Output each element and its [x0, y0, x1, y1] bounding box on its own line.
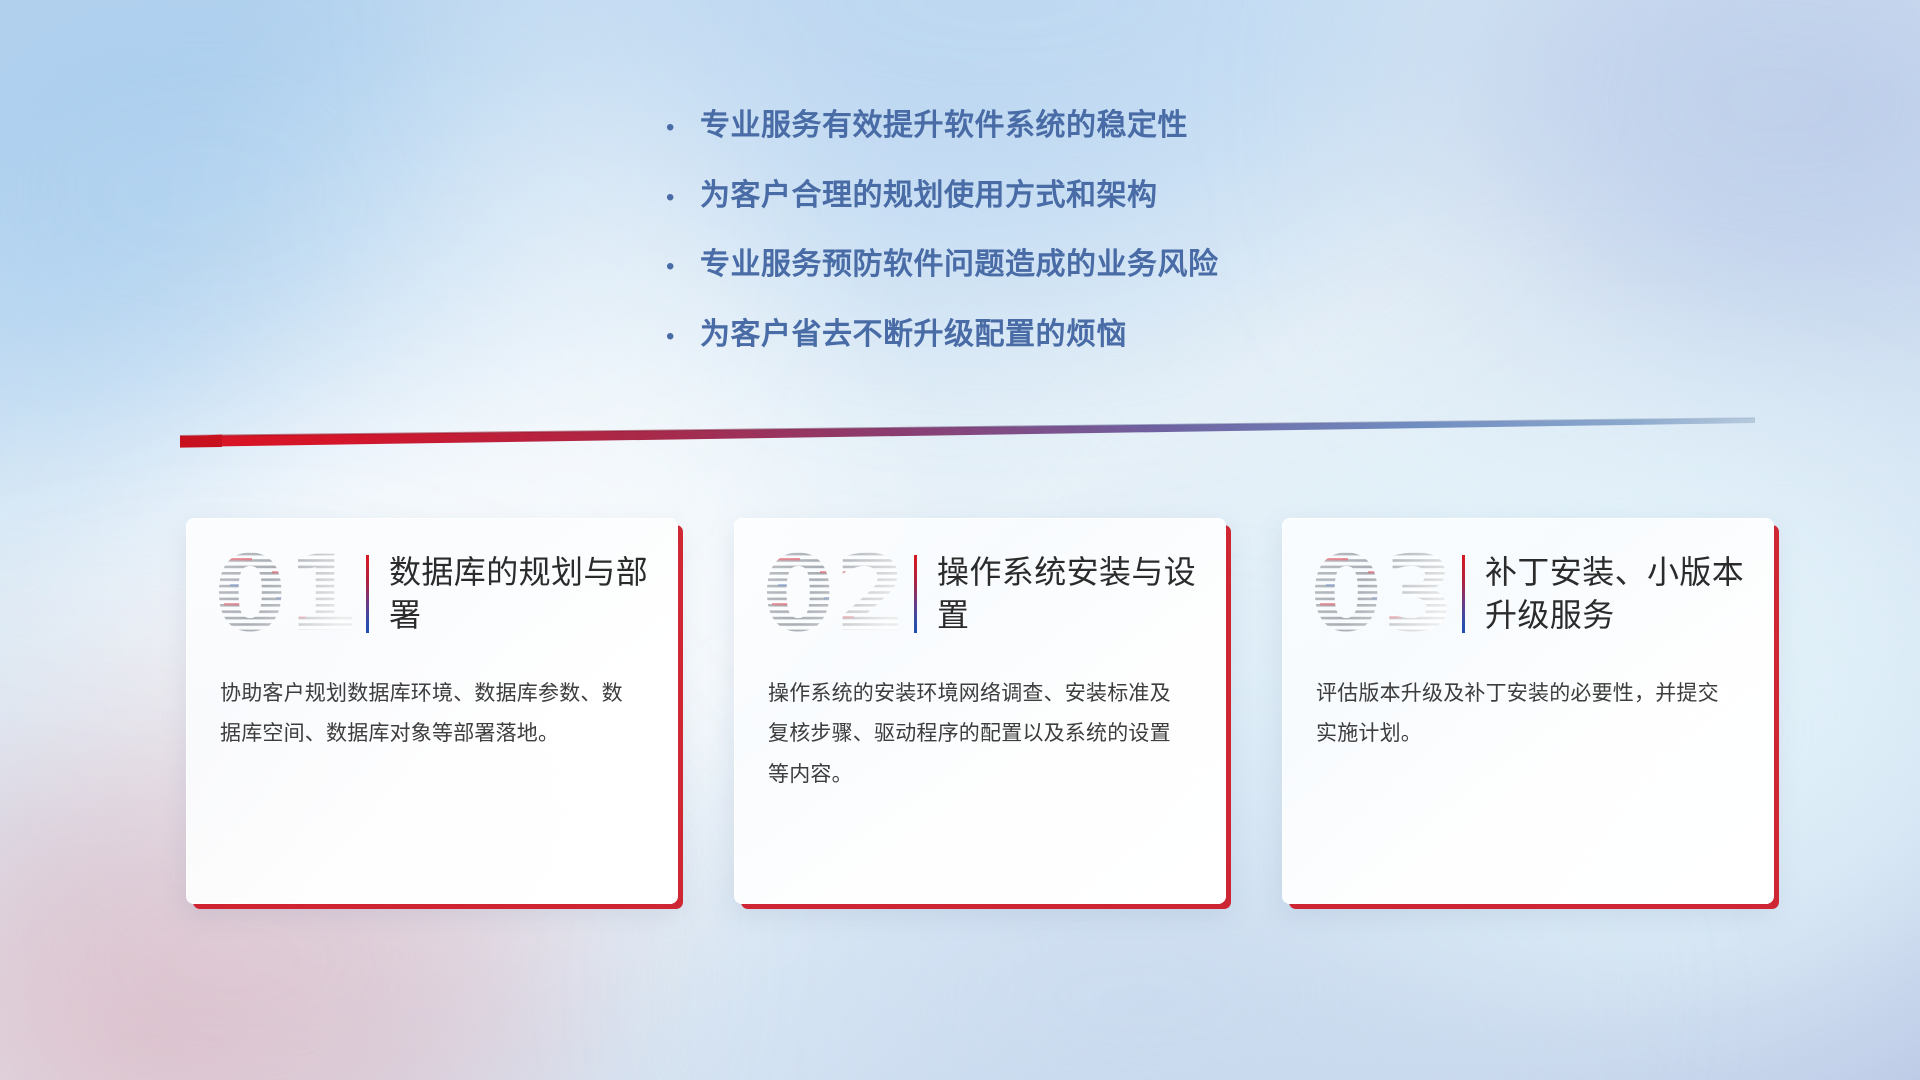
bullet-dot-icon: • [666, 116, 700, 140]
card-title: 操作系统安装与设置 [937, 551, 1204, 637]
striped-number-icon: 01 [212, 540, 362, 648]
card-accent-divider [366, 555, 369, 633]
card-number-watermark: 03 [1308, 540, 1458, 648]
benefits-bullet-list: • 专业服务有效提升软件系统的稳定性 • 为客户合理的规划使用方式和架构 • 专… [666, 106, 1566, 384]
card-title: 补丁安装、小版本升级服务 [1485, 551, 1752, 637]
list-item: • 专业服务预防软件问题造成的业务风险 [666, 245, 1566, 285]
card-header: 03 [1282, 518, 1774, 670]
service-card[interactable]: 01 [186, 518, 678, 904]
card-accent-divider [1462, 555, 1465, 633]
bullet-dot-icon: • [666, 325, 700, 349]
bullet-text: 专业服务有效提升软件系统的稳定性 [700, 106, 1188, 146]
bullet-text: 为客户省去不断升级配置的烦恼 [700, 315, 1127, 355]
card-description: 操作系统的安装环境网络调查、安装标准及复核步骤、驱动程序的配置以及系统的设置等内… [734, 670, 1226, 795]
service-card-row: 01 [186, 518, 1776, 938]
bullet-text: 为客户合理的规划使用方式和架构 [700, 176, 1158, 216]
service-card[interactable]: 03 [1282, 518, 1774, 904]
bullet-dot-icon: • [666, 186, 700, 210]
service-card[interactable]: 02 [734, 518, 1226, 904]
list-item: • 专业服务有效提升软件系统的稳定性 [666, 106, 1566, 146]
card-header: 02 [734, 518, 1226, 670]
section-divider [180, 414, 1755, 448]
card-description: 评估版本升级及补丁安装的必要性，并提交实施计划。 [1282, 670, 1774, 755]
card-number-watermark: 01 [212, 540, 362, 648]
slide-canvas: • 专业服务有效提升软件系统的稳定性 • 为客户合理的规划使用方式和架构 • 专… [0, 0, 1920, 1080]
card-description: 协助客户规划数据库环境、数据库参数、数据库空间、数据库对象等部署落地。 [186, 670, 678, 755]
card-accent-divider [914, 555, 917, 633]
striped-number-icon: 03 [1308, 540, 1458, 648]
striped-number-icon: 02 [760, 540, 910, 648]
card-header: 01 [186, 518, 678, 670]
bullet-dot-icon: • [666, 255, 700, 279]
card-title: 数据库的规划与部署 [389, 551, 656, 637]
card-number-watermark: 02 [760, 540, 910, 648]
tapered-rule-icon [180, 414, 1755, 448]
bullet-text: 专业服务预防软件问题造成的业务风险 [700, 245, 1219, 285]
list-item: • 为客户合理的规划使用方式和架构 [666, 176, 1566, 216]
list-item: • 为客户省去不断升级配置的烦恼 [666, 315, 1566, 355]
